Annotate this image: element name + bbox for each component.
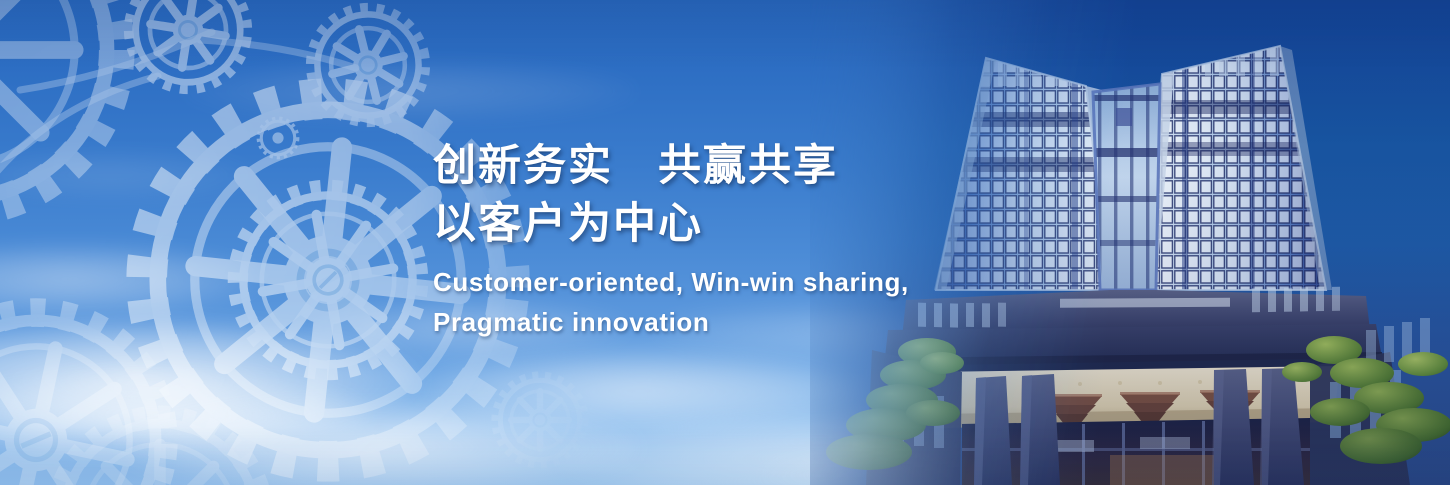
banner-copy: 创新务实 共赢共享 以客户为中心 Customer-oriented, Win-… — [433, 140, 1073, 342]
headline-chinese-line1: 创新务实 共赢共享 — [433, 140, 1073, 192]
subheadline-english: Customer-oriented, Win-win sharing, Prag… — [433, 262, 1073, 342]
hero-banner: 创新务实 共赢共享 以客户为中心 Customer-oriented, Win-… — [0, 0, 1450, 485]
subheadline-line1: Customer-oriented, Win-win sharing, — [433, 262, 1073, 302]
headline-chinese-line2: 以客户为中心 — [433, 198, 1073, 250]
subheadline-line2: Pragmatic innovation — [433, 302, 1073, 342]
